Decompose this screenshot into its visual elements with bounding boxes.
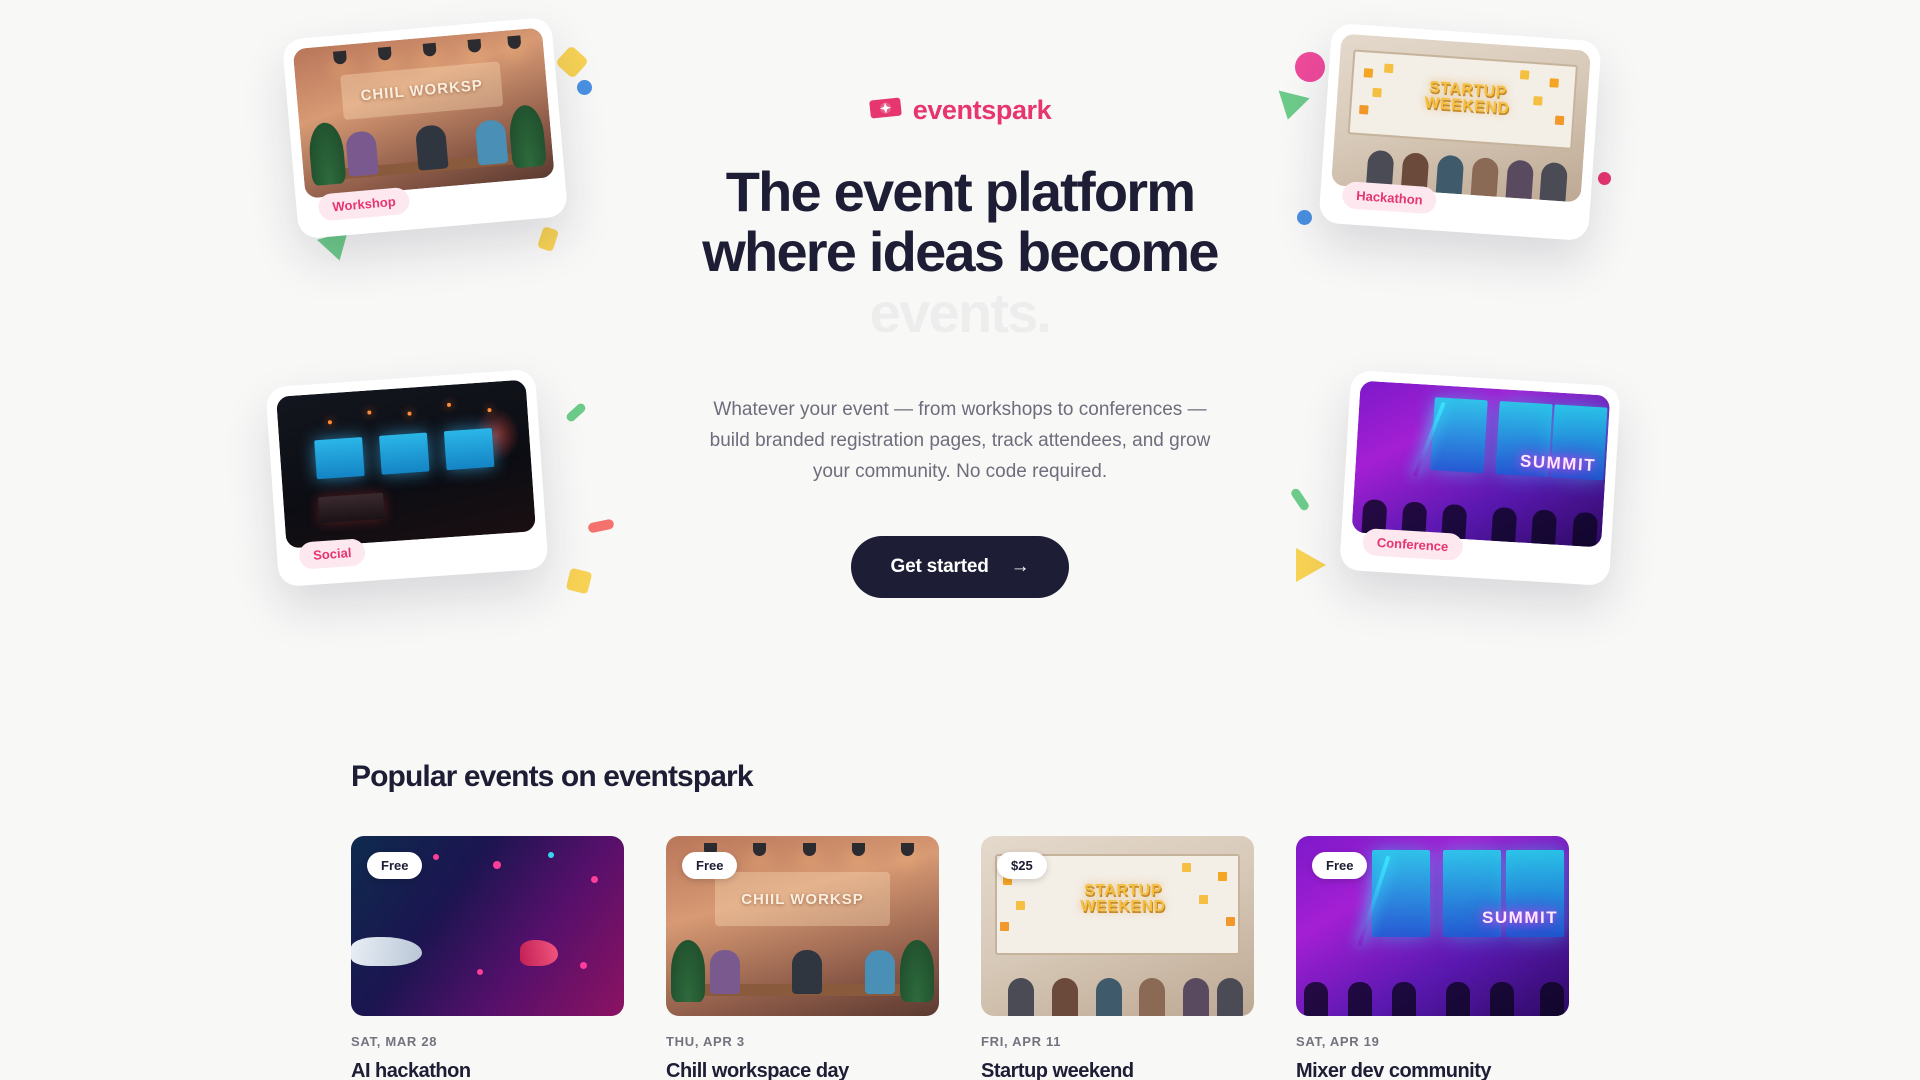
get-started-button[interactable]: Get started → xyxy=(851,536,1070,598)
event-card[interactable]: STARTUP WEEKEND $25 FRI, APR 11 Startup … xyxy=(981,836,1254,1080)
subhead-line-3: your community. No code required. xyxy=(813,461,1107,482)
headline-line-1: The event platform xyxy=(640,162,1280,222)
event-price-badge: Free xyxy=(367,852,422,879)
decor-blue-dot-top xyxy=(577,80,592,95)
decor-yellow-square-social xyxy=(566,568,593,595)
floating-card-hackathon-badge: Hackathon xyxy=(1341,181,1437,215)
floating-card-conference-badge: Conference xyxy=(1362,528,1463,561)
hero-section: eventspark The event platform where idea… xyxy=(0,0,1920,760)
event-title: Startup weekend xyxy=(981,1059,1254,1080)
floating-card-workshop-image-text: CHIIL WORKSP xyxy=(340,61,503,120)
get-started-label: Get started xyxy=(891,556,989,578)
event-title: Mixer dev community xyxy=(1296,1059,1569,1080)
event-date: THU, APR 3 xyxy=(666,1034,939,1049)
floating-card-hackathon[interactable]: STARTUP WEEKEND Hackathon xyxy=(1318,23,1601,241)
decor-yellow-diamond xyxy=(555,45,589,79)
floating-card-workshop[interactable]: CHIIL WORKSP Workshop xyxy=(282,17,568,240)
event-card-image: Free xyxy=(351,836,624,1016)
event-title: Chill workspace day xyxy=(666,1059,939,1080)
popular-events-grid: Free SAT, MAR 28 AI hackathon CHIIL WORK… xyxy=(351,836,1569,1080)
arrow-right-icon: → xyxy=(1011,557,1030,576)
event-price-badge: Free xyxy=(1312,852,1367,879)
decor-green-bar-left xyxy=(565,402,587,423)
brand-logo[interactable]: eventspark xyxy=(640,95,1280,126)
decor-yellow-triangle-right xyxy=(1296,548,1326,582)
event-image-text: SUMMIT xyxy=(1482,908,1558,928)
event-card-image: CHIIL WORKSP Free xyxy=(666,836,939,1016)
event-card[interactable]: CHIIL WORKSP Free THU, APR 3 Chill works… xyxy=(666,836,939,1080)
event-date: SAT, MAR 28 xyxy=(351,1034,624,1049)
cta-container: Get started → xyxy=(640,536,1280,598)
floating-card-conference-image: SUMMIT xyxy=(1351,381,1610,548)
event-card-image: SUMMIT Free xyxy=(1296,836,1569,1016)
event-date: FRI, APR 11 xyxy=(981,1034,1254,1049)
event-image-text: STARTUP WEEKEND xyxy=(1052,883,1194,916)
event-image-text: CHIIL WORKSP xyxy=(715,872,890,926)
floating-card-conference[interactable]: SUMMIT Conference xyxy=(1339,370,1621,586)
decor-coral-bar-left xyxy=(587,518,615,533)
decor-blue-dot-right xyxy=(1297,210,1312,225)
event-price-badge: $25 xyxy=(997,852,1047,879)
event-card[interactable]: SUMMIT Free SAT, APR 19 Mixer dev commun… xyxy=(1296,836,1569,1080)
floating-card-social-badge: Social xyxy=(298,538,366,570)
event-card-image: STARTUP WEEKEND $25 xyxy=(981,836,1254,1016)
headline-line-3: events. xyxy=(640,283,1280,343)
popular-events-section: Popular events on eventspark xyxy=(0,760,1920,1080)
brand-name: eventspark xyxy=(913,95,1052,126)
hero-subheading: Whatever your event — from workshops to … xyxy=(640,395,1280,487)
decor-magenta-dot-right xyxy=(1598,172,1611,185)
page-title: The event platform where ideas become ev… xyxy=(640,162,1280,343)
floating-card-social[interactable]: Social xyxy=(265,369,548,587)
event-price-badge: Free xyxy=(682,852,737,879)
subhead-line-1: Whatever your event — from workshops to … xyxy=(713,399,1206,420)
floating-card-workshop-image: CHIIL WORKSP xyxy=(293,27,555,198)
event-card[interactable]: Free SAT, MAR 28 AI hackathon xyxy=(351,836,624,1080)
hero-content: eventspark The event platform where idea… xyxy=(640,95,1280,598)
floating-card-social-image xyxy=(276,379,536,548)
decor-green-bar-right xyxy=(1290,487,1311,512)
decor-pink-circle-right xyxy=(1295,52,1325,82)
subhead-line-2: build branded registration pages, track … xyxy=(710,430,1211,451)
decor-yellow-square-topleft xyxy=(537,226,559,252)
event-date: SAT, APR 19 xyxy=(1296,1034,1569,1049)
ticket-sparkle-icon xyxy=(869,96,903,125)
floating-card-hackathon-image: STARTUP WEEKEND xyxy=(1331,33,1591,202)
event-title: AI hackathon xyxy=(351,1059,624,1080)
headline-line-2: where ideas become xyxy=(640,222,1280,282)
popular-events-title: Popular events on eventspark xyxy=(351,760,1569,794)
